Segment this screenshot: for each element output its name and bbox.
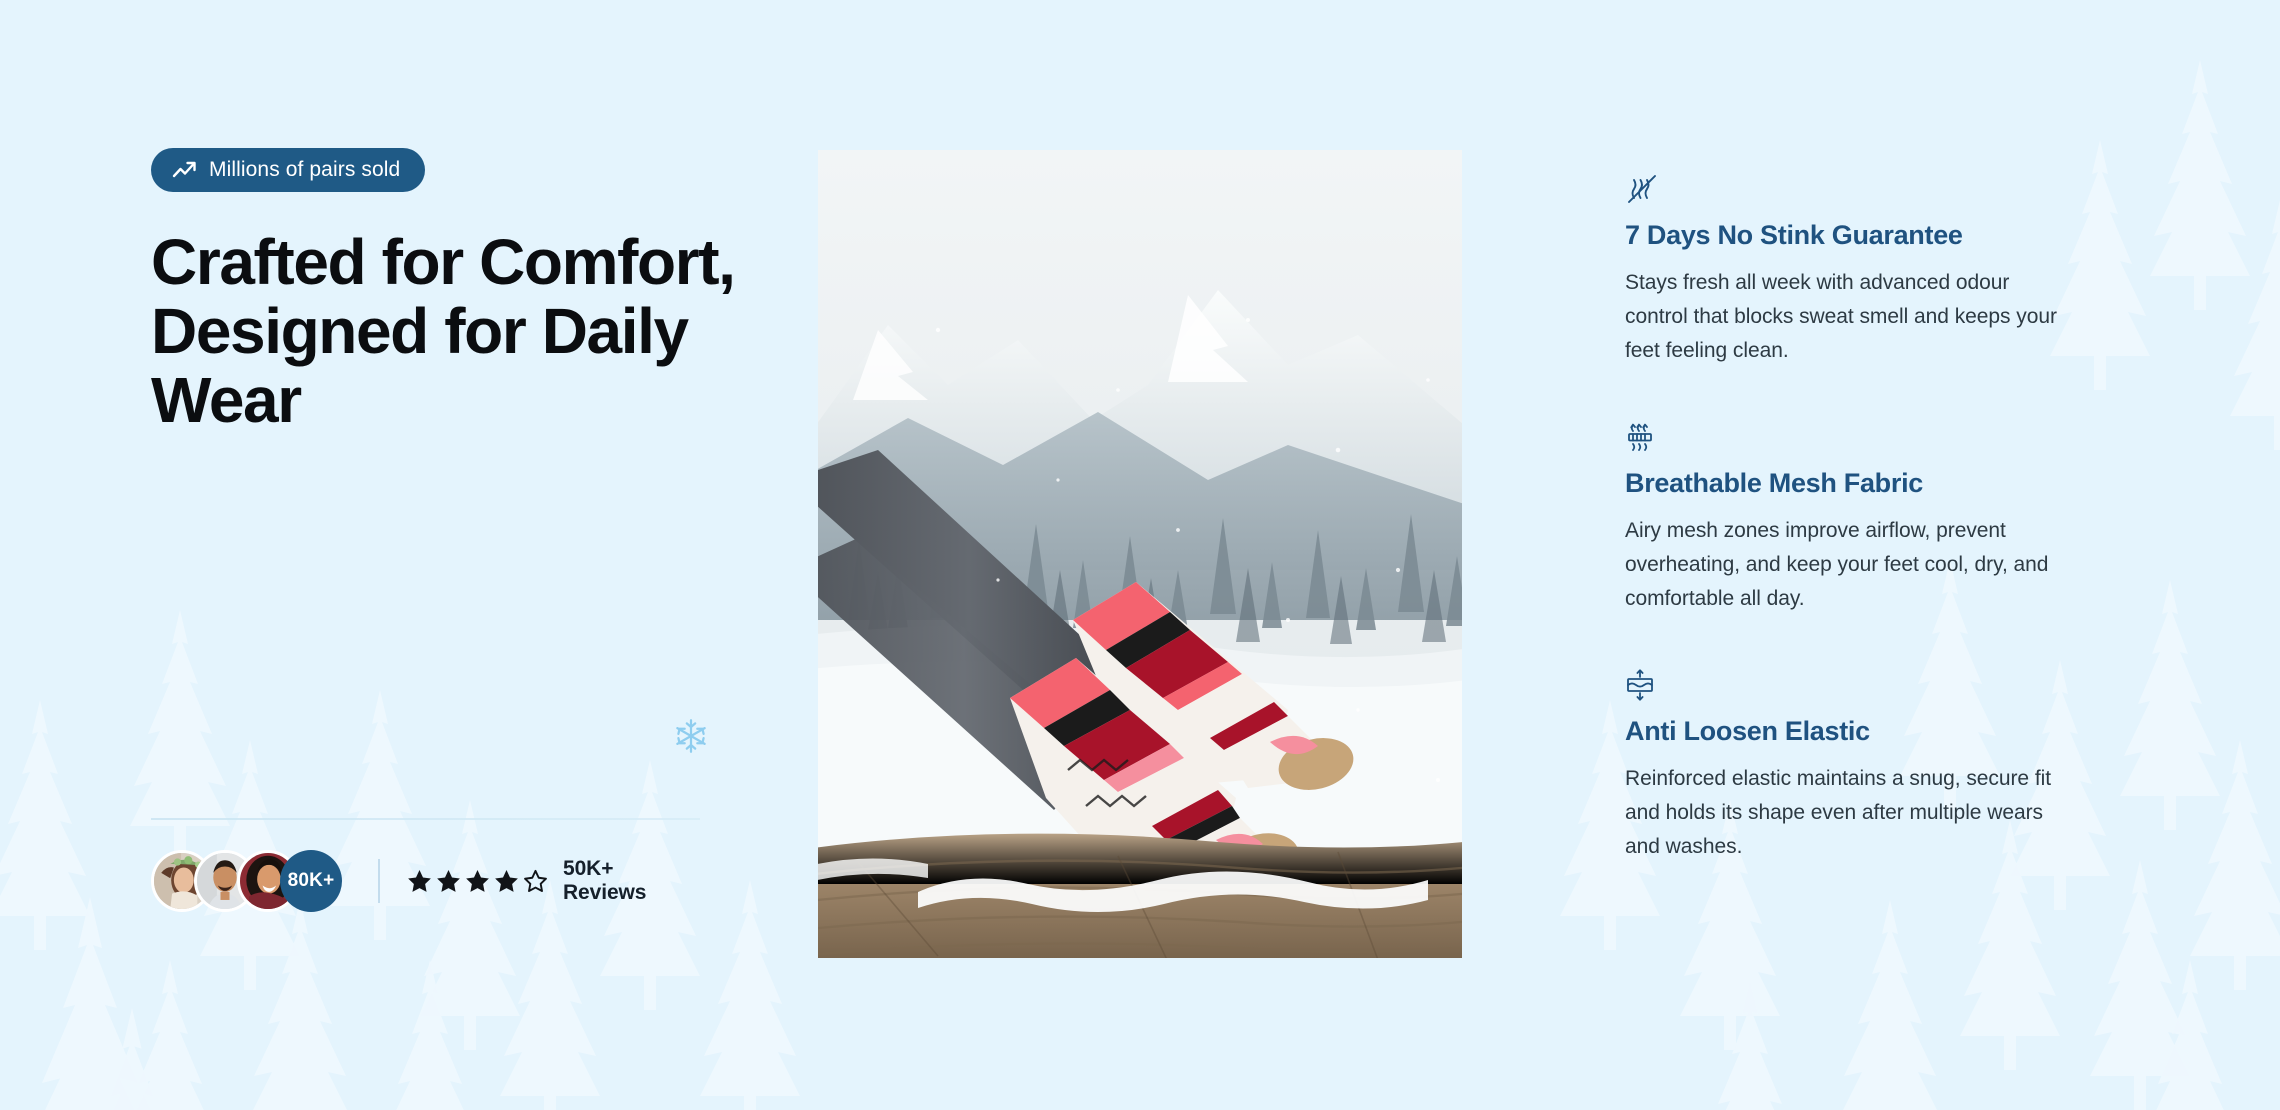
feature-title: Breathable Mesh Fabric — [1625, 468, 2100, 499]
product-hero-section: Millions of pairs sold Crafted for Comfo… — [0, 0, 2280, 1110]
feature-description: Reinforced elastic maintains a snug, sec… — [1625, 762, 2061, 864]
stretch-elastic-icon — [1625, 668, 1659, 702]
snowflake-icon — [673, 718, 709, 754]
star-rating — [406, 868, 549, 895]
divider — [151, 818, 700, 820]
star-filled-icon — [493, 868, 520, 895]
no-odour-icon — [1625, 172, 1659, 206]
feature-item: Anti Loosen Elastic Reinforced elastic m… — [1625, 668, 2100, 864]
breathable-airflow-icon — [1625, 420, 1659, 454]
feature-description: Airy mesh zones improve airflow, prevent… — [1625, 514, 2061, 616]
vertical-divider — [378, 859, 380, 903]
social-proof-block: 80K+ — [151, 818, 701, 912]
product-hero-image — [818, 150, 1462, 958]
avatar-count-badge: 80K+ — [280, 850, 342, 912]
star-empty-icon — [522, 868, 549, 895]
headline-line-2: Designed for Daily — [151, 297, 791, 366]
feature-title: 7 Days No Stink Guarantee — [1625, 220, 2100, 251]
hero-right-column: 7 Days No Stink Guarantee Stays fresh al… — [1462, 0, 2280, 864]
headline-line-1: Crafted for Comfort, — [151, 228, 791, 297]
hero-center-column — [818, 0, 1462, 958]
feature-item: Breathable Mesh Fabric Airy mesh zones i… — [1625, 420, 2100, 616]
customer-avatars: 80K+ — [151, 850, 342, 912]
trending-up-icon — [172, 160, 198, 180]
star-filled-icon — [406, 868, 433, 895]
feature-item: 7 Days No Stink Guarantee Stays fresh al… — [1625, 172, 2100, 368]
millions-sold-badge[interactable]: Millions of pairs sold — [151, 148, 425, 192]
reviews-count-label: 50K+ Reviews — [563, 857, 701, 905]
star-filled-icon — [435, 868, 462, 895]
headline-line-3: Wear — [151, 366, 791, 435]
feature-title: Anti Loosen Elastic — [1625, 716, 2100, 747]
page-title: Crafted for Comfort, Designed for Daily … — [151, 228, 791, 435]
feature-description: Stays fresh all week with advanced odour… — [1625, 266, 2061, 368]
rating-block: 50K+ Reviews — [406, 857, 701, 905]
hero-left-column: Millions of pairs sold Crafted for Comfo… — [0, 0, 818, 1110]
badge-label: Millions of pairs sold — [209, 159, 400, 180]
star-filled-icon — [464, 868, 491, 895]
